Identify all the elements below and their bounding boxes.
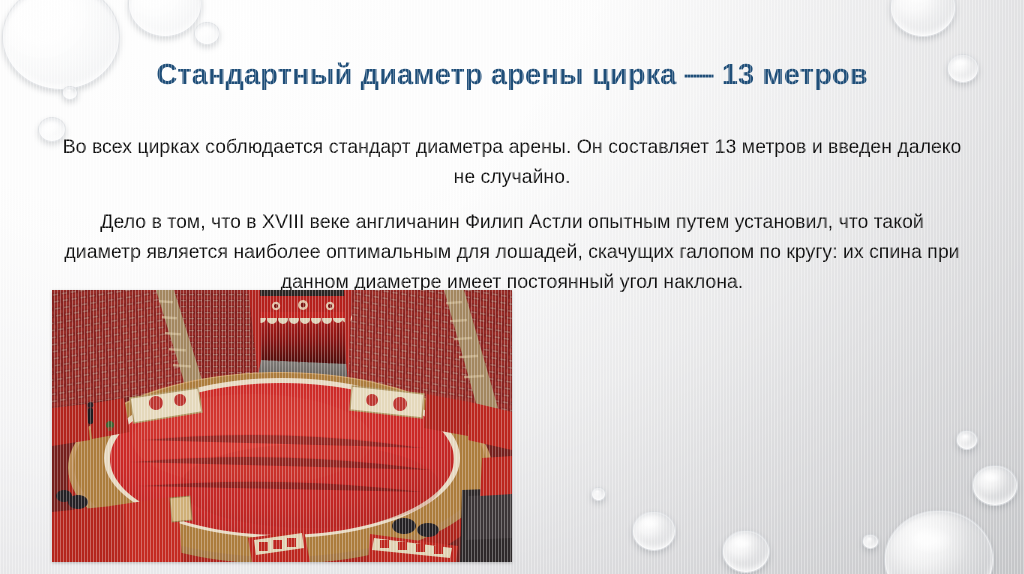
water-droplet-icon <box>194 22 220 45</box>
title-block: Стандартный диаметр арены цирка — 13 мет… <box>60 58 964 92</box>
paragraph-2: Дело в том, что в XVIII веке англичанин … <box>62 208 962 297</box>
water-droplet-icon <box>956 430 978 450</box>
water-droplet-icon <box>890 0 956 37</box>
slide-title: Стандартный диаметр арены цирка — 13 мет… <box>60 58 964 92</box>
body-text-block: Во всех цирках соблюдается стандарт диам… <box>62 133 962 297</box>
water-droplet-icon <box>591 487 606 501</box>
water-droplet-icon <box>972 465 1018 506</box>
water-droplet-icon <box>632 511 676 551</box>
water-droplet-icon <box>862 534 879 549</box>
water-droplet-icon <box>884 510 994 574</box>
paragraph-1: Во всех цирках соблюдается стандарт диам… <box>62 133 962 192</box>
circus-arena-photo <box>52 290 512 562</box>
water-droplet-icon <box>722 530 770 573</box>
water-droplet-icon <box>128 0 202 37</box>
presentation-slide: Стандартный диаметр арены цирка — 13 мет… <box>0 0 1024 574</box>
